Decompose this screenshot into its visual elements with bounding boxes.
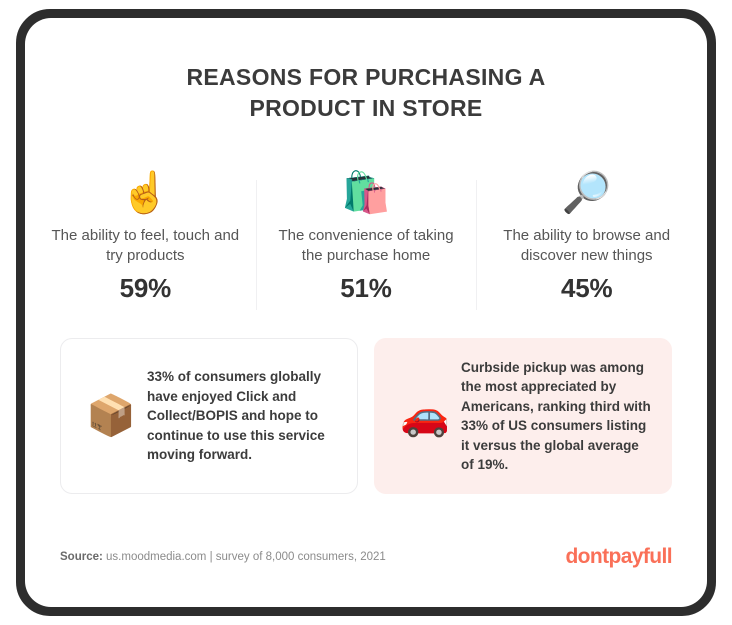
stat-value: 45%	[484, 273, 689, 304]
infographic-root: REASONS FOR PURCHASING A PRODUCT IN STOR…	[0, 0, 732, 625]
stat-label: The convenience of taking the purchase h…	[264, 226, 469, 266]
insight-card-curbside-pickup: 🚗 Curbside pickup was among the most app…	[374, 338, 672, 494]
insight-card-click-and-collect: 📦 33% of consumers globally have enjoyed…	[60, 338, 358, 494]
pointing-up-hand-icon: ☝️	[43, 164, 248, 222]
page-title-line-1: REASONS FOR PURCHASING A	[25, 62, 707, 93]
stat-item-take-purchase-home: 🛍️ The convenience of taking the purchas…	[256, 164, 477, 304]
page-title-line-2: PRODUCT IN STORE	[25, 93, 707, 124]
stat-value: 51%	[264, 273, 469, 304]
stat-item-feel-touch-try: ☝️ The ability to feel, touch and try pr…	[35, 164, 256, 304]
insight-card-text: 33% of consumers globally have enjoyed C…	[147, 367, 341, 465]
package-box-icon: 📦	[75, 396, 147, 436]
source-note: Source: us.moodmedia.com | survey of 8,0…	[60, 549, 386, 565]
infographic-canvas: REASONS FOR PURCHASING A PRODUCT IN STOR…	[25, 18, 707, 607]
insight-card-text: Curbside pickup was among the most appre…	[461, 358, 655, 475]
source-label: Source:	[60, 551, 103, 563]
magnifying-glass-icon: 🔎	[484, 164, 689, 222]
stat-item-browse-discover: 🔎 The ability to browse and discover new…	[476, 164, 697, 304]
insight-cards: 📦 33% of consumers globally have enjoyed…	[60, 338, 672, 494]
stats-row: ☝️ The ability to feel, touch and try pr…	[35, 164, 697, 304]
footer: Source: us.moodmedia.com | survey of 8,0…	[60, 545, 672, 569]
dontpayfull-logo: dontpayfull	[565, 545, 672, 569]
shopping-bags-icon: 🛍️	[264, 164, 469, 222]
page-title: REASONS FOR PURCHASING A PRODUCT IN STOR…	[25, 62, 707, 124]
stat-label: The ability to browse and discover new t…	[484, 226, 689, 266]
stat-value: 59%	[43, 273, 248, 304]
source-text: us.moodmedia.com | survey of 8,000 consu…	[103, 551, 386, 563]
stat-label: The ability to feel, touch and try produ…	[43, 226, 248, 266]
red-car-icon: 🚗	[389, 396, 461, 436]
